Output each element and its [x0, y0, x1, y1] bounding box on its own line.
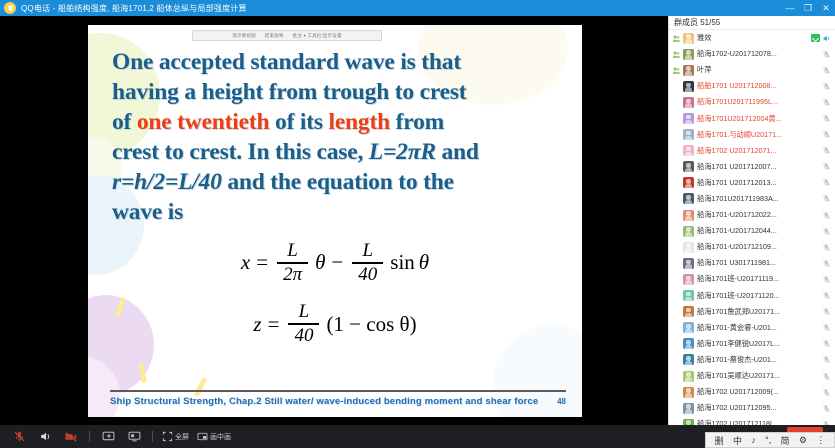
microphone-muted-icon[interactable] — [822, 372, 831, 381]
eq1-minus: − — [329, 250, 345, 275]
member-row[interactable]: 船海1701詹武郑U20171... — [669, 304, 835, 320]
member-status-icons — [822, 227, 831, 236]
member-name: 叶萍 — [697, 65, 822, 75]
shared-screen-stage[interactable]: 演示者视图 结束放映 批注 ▾ 工具栏/显示设置 One accepted st… — [0, 16, 668, 425]
microphone-muted-icon[interactable] — [822, 114, 831, 123]
member-status-icons — [822, 275, 831, 284]
paragraph-line-2: having a height from trough to crest — [112, 77, 560, 107]
eq1-lhs: x — [241, 250, 250, 275]
member-row[interactable]: 船海1701.与动顺U20171... — [669, 127, 835, 143]
line2-text: having a height from trough to crest — [112, 79, 466, 105]
line4-a: crest to crest. In this case, — [112, 139, 369, 165]
qq-meeting-window: QQ电话 - 船舶结构强度, 船海1701,2 船体总纵与局部强度计算 — ❐ … — [0, 0, 835, 448]
fullscreen-label: 全屏 — [175, 432, 189, 442]
camera-muted-icon[interactable] — [58, 425, 84, 448]
eq2-rest: (1 − cos θ) — [326, 312, 416, 337]
member-status-icons — [822, 243, 831, 252]
ime-keyboard-icon[interactable]: 删 — [715, 434, 724, 447]
member-row[interactable]: 船海1701班-U20171120... — [669, 288, 835, 304]
member-status-icons — [822, 307, 831, 316]
member-name: 船海1702 U201712095... — [697, 403, 822, 413]
member-row[interactable]: 雅效 — [669, 30, 835, 46]
member-row[interactable]: 船海1701U201712004黄... — [669, 110, 835, 126]
microphone-muted-icon[interactable] — [822, 98, 831, 107]
paragraph-line-6: wave is — [112, 197, 560, 227]
member-status-icons — [822, 178, 831, 187]
avatar — [683, 210, 694, 221]
eq1-equals: = — [254, 250, 270, 275]
minimize-button[interactable]: — — [781, 0, 799, 16]
avatar — [683, 242, 694, 253]
group-member-icon — [672, 66, 681, 75]
footer-divider — [110, 390, 566, 392]
microphone-muted-icon[interactable] — [6, 425, 32, 448]
toolbar-presenter-view[interactable]: 演示者视图 — [232, 33, 256, 39]
member-row[interactable]: 船海1701吴顺达U20171... — [669, 368, 835, 384]
eq1-f1-numerator: L — [281, 241, 304, 261]
member-name: 船海1701-U201712022... — [697, 210, 822, 220]
ime-mode-toggle[interactable]: 简 — [781, 434, 790, 447]
speaker-icon[interactable] — [32, 425, 58, 448]
line1-text: One accepted standard wave is that — [112, 49, 461, 75]
member-name: 船海1701U201711995L... — [697, 97, 822, 107]
member-status-icons — [822, 194, 831, 203]
member-name: 船海1701-U201712044... — [697, 226, 822, 236]
avatar — [683, 33, 694, 44]
eq1-sin: sin — [390, 250, 415, 275]
microphone-muted-icon[interactable] — [822, 291, 831, 300]
window-titlebar: QQ电话 - 船舶结构强度, 船海1701,2 船体总纵与局部强度计算 — ❐ … — [0, 0, 835, 16]
member-status-icons — [822, 372, 831, 381]
eq1-f1-denominator: 2π — [277, 265, 308, 285]
member-status-icons — [822, 66, 831, 75]
microphone-muted-icon[interactable] — [822, 339, 831, 348]
member-row[interactable]: 船海1702-U201712078... — [669, 46, 835, 62]
ime-music-icon[interactable]: ♪ — [751, 435, 756, 445]
microphone-muted-icon[interactable] — [822, 259, 831, 268]
slide-footer: Ship Structural Strength, Chap.2 Still w… — [88, 390, 582, 407]
group-member-icon — [672, 50, 681, 59]
line4-formula: L=2πR — [369, 139, 436, 165]
member-row[interactable]: 船海1702 U201712118L... — [669, 416, 835, 425]
avatar — [683, 97, 694, 108]
screen-share-badge-icon — [811, 34, 820, 42]
microphone-muted-icon[interactable] — [822, 307, 831, 316]
members-panel-icon[interactable] — [121, 425, 147, 448]
member-name: 船海1701U201712004黄... — [697, 114, 822, 124]
microphone-muted-icon[interactable] — [822, 275, 831, 284]
paragraph-line-1: One accepted standard wave is that — [112, 47, 560, 77]
member-row[interactable]: 船海1701-蔡俊杰-U201... — [669, 352, 835, 368]
avatar — [683, 290, 694, 301]
member-name: 船海1701吴顺达U20171... — [697, 371, 822, 381]
screen-share-icon[interactable] — [95, 425, 121, 448]
member-name: 船海1701詹武郑U20171... — [697, 307, 822, 317]
ime-settings-icon[interactable]: ⚙ — [799, 435, 807, 446]
footer-text: Ship Structural Strength, Chap.2 Still w… — [110, 396, 538, 407]
control-divider-1 — [89, 431, 90, 442]
member-status-icons — [822, 82, 831, 91]
member-name: 船海1701.与动顺U20171... — [697, 130, 822, 140]
member-row[interactable]: 船海1701 U201712007... — [669, 159, 835, 175]
member-row[interactable]: 船海1702 U201712095... — [669, 400, 835, 416]
member-name: 船海1701班-U20171120... — [697, 291, 822, 301]
slide-body: One accepted standard wave is that havin… — [88, 47, 582, 392]
line3-c: from — [390, 109, 444, 135]
layout-grid-icon — [162, 431, 173, 442]
avatar — [683, 274, 694, 285]
line5-a: and the equation to the — [222, 169, 454, 195]
ime-language-toggle[interactable]: 中 — [733, 434, 742, 447]
slide-page-number: 48 — [557, 397, 566, 406]
members-header: 群成员 51/55 — [669, 16, 835, 30]
view-switch-control[interactable]: 画中画 — [193, 425, 235, 448]
avatar — [683, 49, 694, 60]
member-row[interactable]: 船海1701 U301711981... — [669, 255, 835, 271]
line3-highlight-length: length — [328, 109, 389, 135]
member-status-icons — [822, 50, 831, 59]
member-name: 船海1702-U201712078... — [697, 49, 822, 59]
eq2-equals: = — [266, 312, 282, 337]
avatar — [683, 371, 694, 382]
avatar — [683, 129, 694, 140]
slide-paragraph: One accepted standard wave is that havin… — [88, 47, 582, 227]
eq1-fraction-2: L 40 — [352, 241, 383, 284]
member-row[interactable]: 船海1701-U201712109... — [669, 239, 835, 255]
member-status-icons — [822, 291, 831, 300]
avatar — [683, 403, 694, 414]
microphone-muted-icon[interactable] — [822, 178, 831, 187]
member-status-icons — [822, 146, 831, 155]
equation-x: x = L 2π θ − L 40 — [88, 241, 582, 284]
equations-block: x = L 2π θ − L 40 — [88, 241, 582, 346]
member-row[interactable]: 船海1701-黄会睿-U201... — [669, 320, 835, 336]
member-row[interactable]: 船海1701U201711995L... — [669, 94, 835, 110]
avatar — [683, 226, 694, 237]
microphone-muted-icon[interactable] — [822, 66, 831, 75]
member-status-icons — [822, 388, 831, 397]
presentation-slide: 演示者视图 结束放映 批注 ▾ 工具栏/显示设置 One accepted st… — [88, 25, 582, 417]
avatar — [683, 306, 694, 317]
microphone-muted-icon[interactable] — [822, 404, 831, 413]
window-title: QQ电话 - 船舶结构强度, 船海1701,2 船体总纵与局部强度计算 — [21, 3, 247, 14]
slideshow-toolbar[interactable]: 演示者视图 结束放映 批注 ▾ 工具栏/显示设置 — [192, 30, 382, 41]
microphone-muted-icon[interactable] — [822, 355, 831, 364]
eq1-theta-2: θ — [419, 250, 429, 275]
member-name: 船舶1701 U201712008... — [697, 81, 822, 91]
member-name: 船海1701班-U20171119... — [697, 274, 822, 284]
member-status-icons — [822, 323, 831, 332]
line6-text: wave is — [112, 199, 183, 225]
toolbar-annotate[interactable]: 批注 ▾ 工具栏/显示设置 — [293, 33, 342, 39]
member-status-icons — [822, 211, 831, 220]
restore-button[interactable]: ❐ — [799, 0, 817, 16]
member-row[interactable]: 船海1701班-U20171119... — [669, 271, 835, 287]
member-status-icons — [822, 339, 831, 348]
avatar — [683, 338, 694, 349]
member-row[interactable]: 船海1702 U201712009(... — [669, 384, 835, 400]
member-name: 船海1701 U201712013... — [697, 178, 822, 188]
member-status-icons — [822, 355, 831, 364]
speaker-active-icon — [822, 34, 831, 43]
member-row[interactable]: 船海1701李健锐U2017L... — [669, 336, 835, 352]
member-status-icons — [822, 130, 831, 139]
paragraph-line-4: crest to crest. In this case, L=2πR and — [112, 137, 560, 167]
window-controls: — ❐ ✕ — [781, 0, 835, 16]
member-row[interactable]: 船海1701 U201712013... — [669, 175, 835, 191]
members-list[interactable]: 雅效船海1702-U201712078...叶萍船舶1701 U20171200… — [669, 30, 835, 425]
ime-more-icon[interactable]: ⋮ — [816, 435, 825, 446]
microphone-muted-icon[interactable] — [822, 162, 831, 171]
eq1-fraction-1: L 2π — [277, 241, 308, 284]
member-row[interactable]: 船海1702 U201712071... — [669, 143, 835, 159]
avatar — [683, 65, 694, 76]
ime-language-bar[interactable]: 删 中 ♪ °, 简 ⚙ ⋮ — [705, 432, 835, 448]
member-row[interactable]: 船海1701-U201712022... — [669, 207, 835, 223]
line3-a: of — [112, 109, 137, 135]
avatar — [683, 322, 694, 333]
member-name: 船海1701U201711983A... — [697, 194, 822, 204]
member-name: 船海1701 U301711981... — [697, 258, 822, 268]
eq2-fraction-1: L 40 — [288, 302, 319, 345]
view-switch-label: 画中画 — [210, 432, 231, 442]
eq2-f1-numerator: L — [293, 302, 316, 322]
member-status-icons — [822, 404, 831, 413]
member-row[interactable]: 船海1701U201711983A... — [669, 191, 835, 207]
microphone-muted-icon[interactable] — [822, 227, 831, 236]
paragraph-line-3: of one twentieth of its length from — [112, 107, 560, 137]
member-row[interactable]: 船舶1701 U201712008... — [669, 78, 835, 94]
avatar — [683, 161, 694, 172]
avatar — [683, 177, 694, 188]
microphone-muted-icon[interactable] — [822, 388, 831, 397]
microphone-muted-icon[interactable] — [822, 194, 831, 203]
eq2-f1-denominator: 40 — [288, 326, 319, 346]
group-member-icon — [672, 34, 681, 43]
member-status-icons — [822, 114, 831, 123]
line3-highlight-one-twentieth: one twentieth — [137, 109, 270, 135]
toolbar-end-show[interactable]: 结束放映 — [265, 33, 284, 39]
avatar — [683, 81, 694, 92]
member-name: 船海1701-黄会睿-U201... — [697, 323, 822, 333]
member-name: 船海1701李健锐U2017L... — [697, 339, 822, 349]
microphone-muted-icon[interactable] — [822, 82, 831, 91]
avatar — [683, 387, 694, 398]
qq-meeting-logo-icon — [4, 2, 16, 14]
avatar — [683, 258, 694, 269]
member-name: 船海1702 U201712009(... — [697, 387, 822, 397]
microphone-muted-icon[interactable] — [822, 146, 831, 155]
microphone-muted-icon[interactable] — [822, 211, 831, 220]
eq2-lhs: z — [253, 312, 261, 337]
avatar — [683, 354, 694, 365]
member-row[interactable]: 叶萍 — [669, 62, 835, 78]
microphone-muted-icon[interactable] — [822, 323, 831, 332]
member-status-icons — [822, 162, 831, 171]
microphone-muted-icon[interactable] — [822, 243, 831, 252]
avatar — [683, 113, 694, 124]
eq1-f2-denominator: 40 — [352, 265, 383, 285]
avatar — [683, 145, 694, 156]
member-status-icons — [822, 259, 831, 268]
member-name: 船海1701-U201712109... — [697, 242, 822, 252]
line4-b: and — [436, 139, 479, 165]
ime-punctuation-icon[interactable]: °, — [765, 435, 771, 445]
member-name: 船海1701-蔡俊杰-U201... — [697, 355, 822, 365]
view-switch-icon — [197, 431, 208, 442]
fullscreen-control[interactable]: 全屏 — [158, 425, 193, 448]
equation-z: z = L 40 (1 − cos θ) — [88, 302, 582, 345]
close-button[interactable]: ✕ — [817, 0, 835, 16]
member-name: 雅效 — [697, 33, 811, 43]
member-name: 船海1701 U201712007... — [697, 162, 822, 172]
member-status-icons — [822, 98, 831, 107]
line5-formula: r=h/2=L/40 — [112, 169, 222, 195]
member-row[interactable]: 船海1701-U201712044... — [669, 223, 835, 239]
members-sidebar: 群成员 51/55 雅效船海1702-U201712078...叶萍船舶1701… — [668, 16, 835, 425]
member-name: 船海1702 U201712071... — [697, 146, 822, 156]
avatar — [683, 193, 694, 204]
microphone-muted-icon[interactable] — [822, 50, 831, 59]
eq1-theta-1: θ — [315, 250, 325, 275]
paragraph-line-5: r=h/2=L/40 and the equation to the — [112, 167, 560, 197]
eq1-f2-numerator: L — [356, 241, 379, 261]
control-divider-2 — [152, 431, 153, 442]
line3-b: of its — [269, 109, 328, 135]
microphone-muted-icon[interactable] — [822, 130, 831, 139]
member-status-icons — [811, 34, 831, 43]
